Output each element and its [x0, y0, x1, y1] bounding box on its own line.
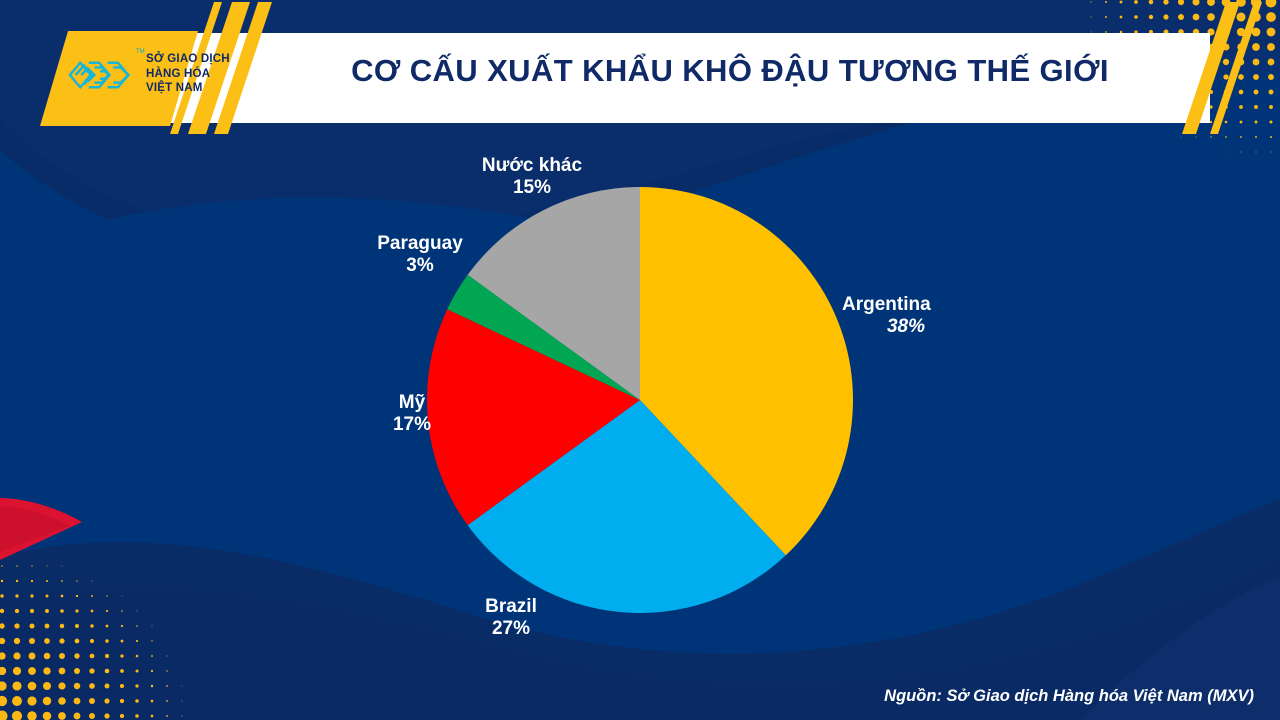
- pie-label-brazil: Brazil 27%: [435, 596, 587, 640]
- pie-label-name: Paraguay: [340, 233, 500, 255]
- mxv-weave-logomark-icon: [68, 50, 134, 100]
- pie-label-value: 17%: [348, 414, 476, 436]
- page-title: CƠ CẤU XUẤT KHẨU KHÔ ĐẬU TƯƠNG THẾ GIỚI: [260, 54, 1200, 88]
- brand-logo: TM SỞ GIAO DỊCH HÀNG HÓA VIỆT NAM: [68, 36, 258, 124]
- pie-label-value: 27%: [435, 618, 587, 640]
- logo-wordmark-line2: HÀNG HÓA: [146, 67, 230, 82]
- pie-label-paraguay: Paraguay 3%: [340, 233, 500, 277]
- pie-label-name: Mỹ: [348, 392, 476, 414]
- logo-wordmark-line3: VIỆT NAM: [146, 81, 230, 96]
- pie-label-name: Argentina: [842, 294, 1010, 316]
- pie-label-name: Brazil: [435, 596, 587, 618]
- pie-label-argentina: Argentina 38%: [842, 294, 1010, 338]
- logo-wordmark: SỞ GIAO DỊCH HÀNG HÓA VIỆT NAM: [146, 52, 230, 96]
- pie-label-value: 3%: [340, 255, 500, 277]
- logo-tm-mark: TM: [136, 49, 145, 55]
- source-note: Nguồn: Sở Giao dịch Hàng hóa Việt Nam (M…: [884, 687, 1254, 706]
- pie-label-name: Nước khác: [442, 155, 622, 177]
- logo-wordmark-line1: SỞ GIAO DỊCH: [146, 52, 230, 67]
- pie-label-value: 38%: [842, 316, 970, 338]
- pie-label-nuoc-khac: Nước khác 15%: [442, 155, 622, 199]
- pie-label-my: Mỹ 17%: [348, 392, 476, 436]
- infographic-slide: TM SỞ GIAO DỊCH HÀNG HÓA VIỆT NAM CƠ CẤU…: [0, 0, 1280, 720]
- pie-label-value: 15%: [442, 177, 622, 199]
